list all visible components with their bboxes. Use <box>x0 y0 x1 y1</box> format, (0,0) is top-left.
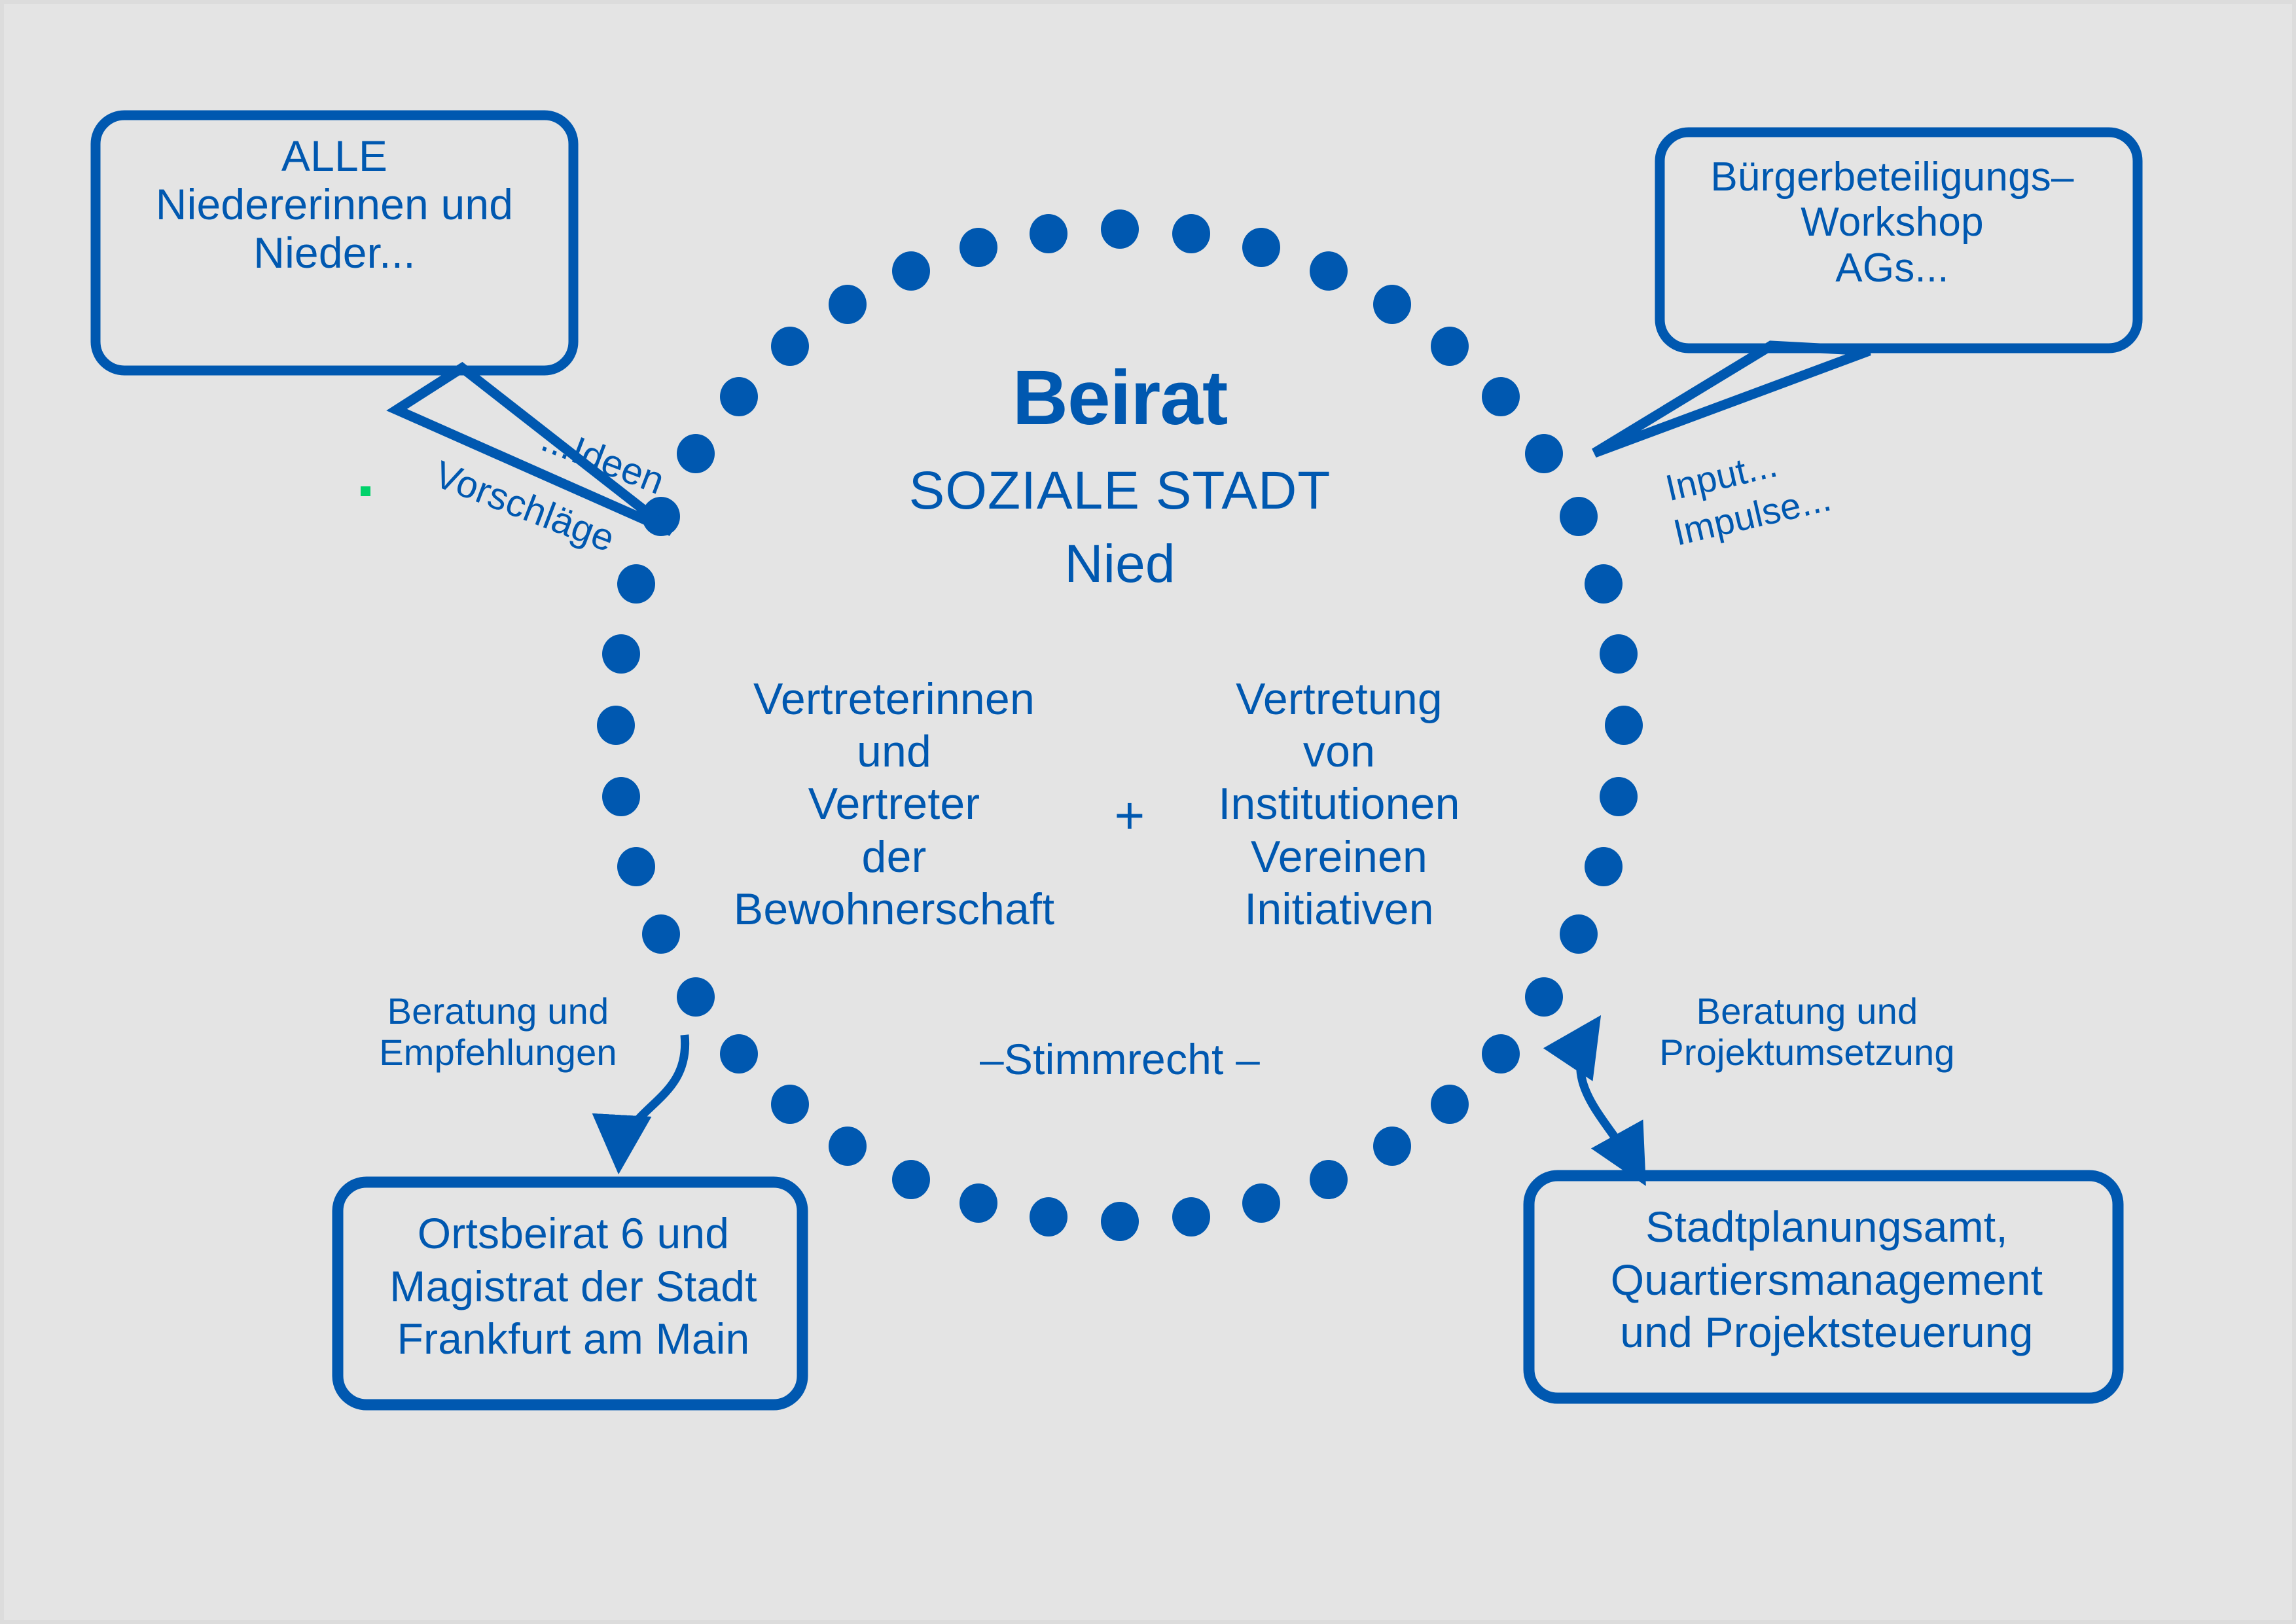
flow-label-beratung-projektumsetzung: Beratung und Projektumsetzung <box>1640 991 1974 1073</box>
flow-label-beratung-empfehlungen: Beratung und Empfehlungen <box>357 991 639 1073</box>
arrow-beratung-projektumsetzung <box>1581 1025 1640 1176</box>
plus-operator: + <box>1090 786 1169 845</box>
page-title: Beirat <box>793 355 1447 441</box>
core-column-left: Vertreterinnen und Vertreter der Bewohne… <box>711 673 1077 935</box>
core-subheading-line2: Nied <box>793 534 1447 594</box>
box-ortsbeirat-label: Ortsbeirat 6 und Magistrat der Stadt Fra… <box>344 1207 802 1365</box>
diagram-canvas: ALLE Niedererinnen und Nieder... Bürgerb… <box>0 0 2296 1624</box>
box-stadtplanungsamt-label: Stadtplanungsamt, Quartiersmanagement un… <box>1542 1200 2111 1359</box>
speech-bubble-buergerbeteiligung-label: Bürgerbeteiligungs– Workshop AGs... <box>1666 154 2118 291</box>
core-footnote-stimmrecht: –Stimmrecht – <box>924 1036 1316 1084</box>
speech-bubble-alle-niederer-label: ALLE Niedererinnen und Nieder... <box>102 132 567 278</box>
green-marker-dot <box>361 486 370 496</box>
core-column-right: Vertretung von Institutionen Vereinen In… <box>1175 673 1503 935</box>
core-subheading-line1: SOZIALE STADT <box>793 461 1447 521</box>
